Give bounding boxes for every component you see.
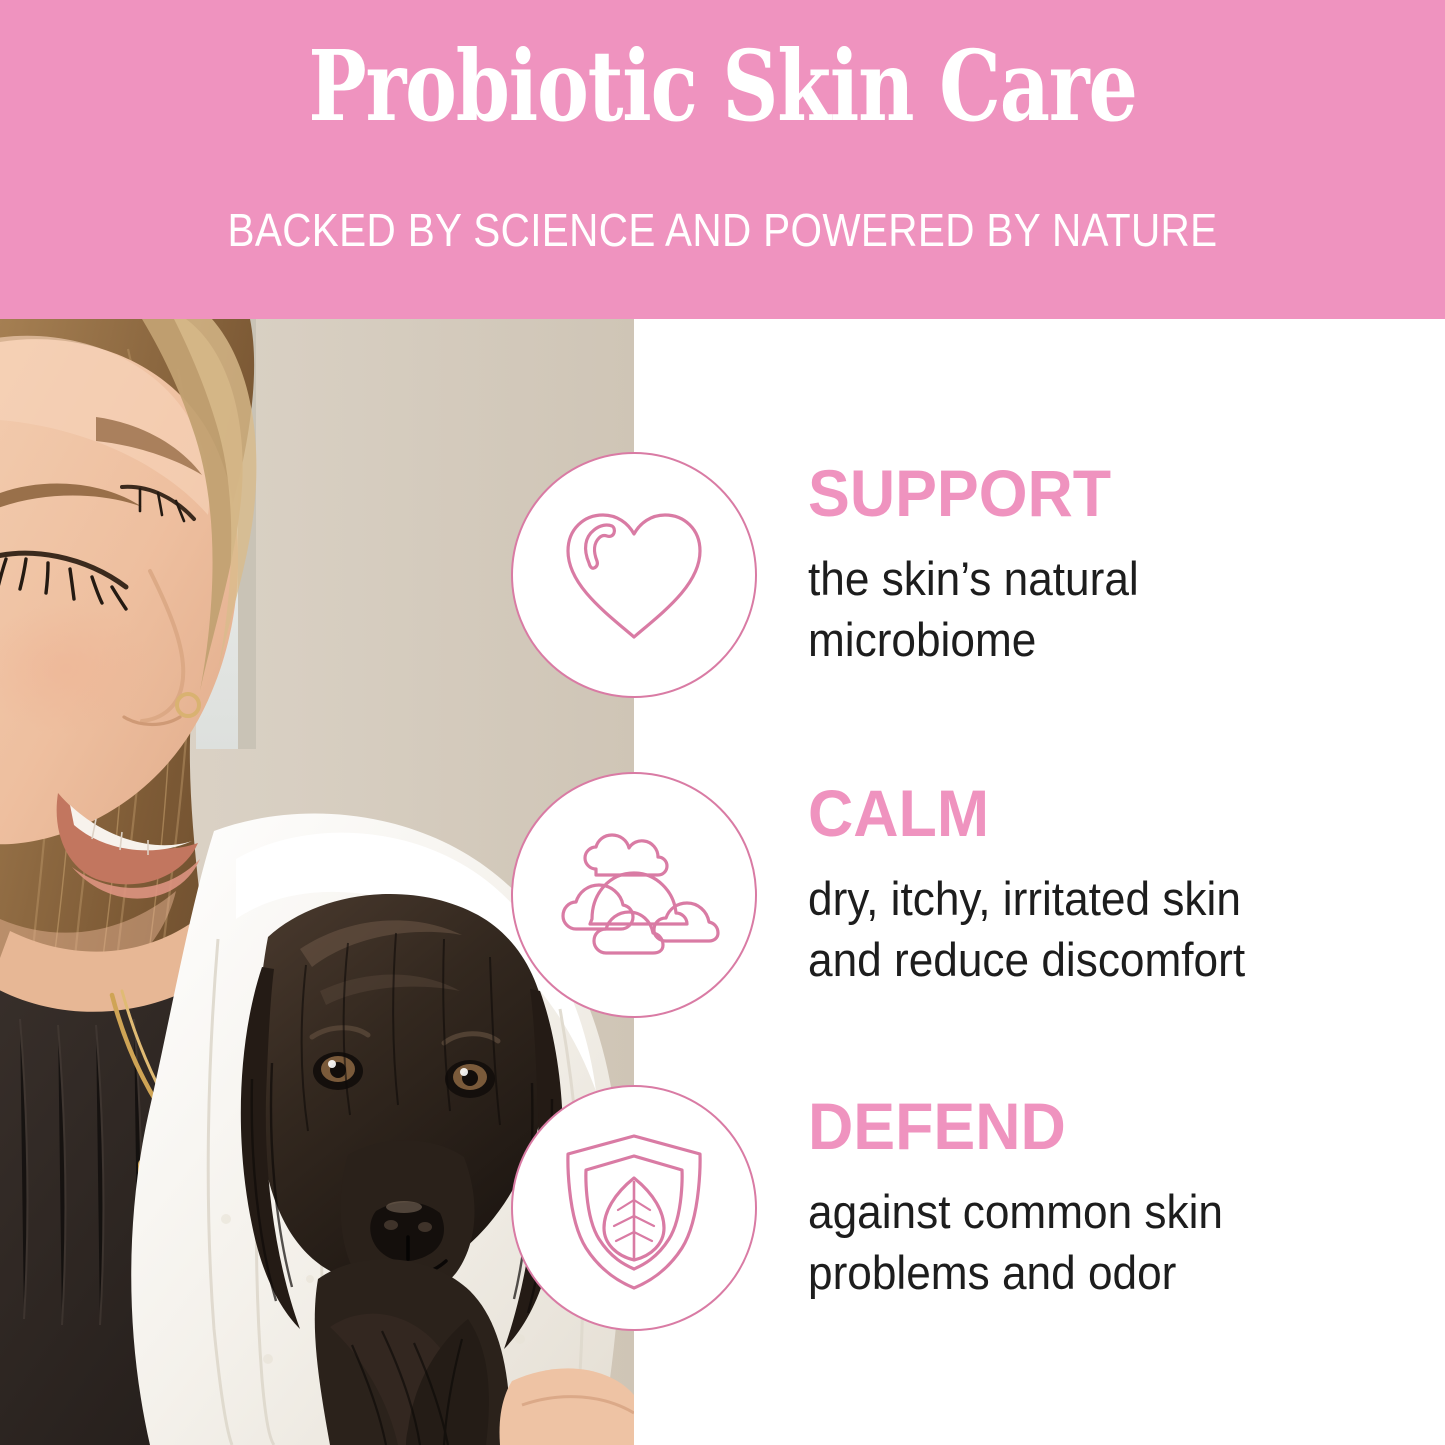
page-title: Probiotic Skin Care xyxy=(145,36,1301,138)
benefit-calm-text: CALM dry, itchy, irritated skin and redu… xyxy=(808,780,1428,990)
page-subtitle: BACKED BY SCIENCE AND POWERED BY NATURE xyxy=(87,205,1359,256)
infographic-page: Probiotic Skin Care BACKED BY SCIENCE AN… xyxy=(0,0,1445,1445)
benefit-support-body-line-1: the skin’s natural xyxy=(808,548,1391,609)
benefit-support-body-line-2: microbiome xyxy=(808,609,1391,670)
benefit-calm-body-line-1: dry, itchy, irritated skin xyxy=(808,868,1391,929)
benefit-defend-body-line-2: problems and odor xyxy=(808,1242,1391,1303)
benefit-defend: DEFEND against common skin problems and … xyxy=(0,1085,1445,1331)
clouds-icon xyxy=(511,772,757,1018)
shield-leaf-icon xyxy=(511,1085,757,1331)
benefit-support-heading: SUPPORT xyxy=(808,460,1397,526)
benefit-defend-body: against common skin problems and odor xyxy=(808,1181,1391,1303)
benefit-support-body: the skin’s natural microbiome xyxy=(808,548,1391,670)
heart-icon xyxy=(511,452,757,698)
benefit-support-text: SUPPORT the skin’s natural microbiome xyxy=(808,460,1428,670)
benefit-calm-body: dry, itchy, irritated skin and reduce di… xyxy=(808,868,1391,990)
benefit-defend-body-line-1: against common skin xyxy=(808,1181,1391,1242)
benefit-defend-text: DEFEND against common skin problems and … xyxy=(808,1093,1428,1303)
benefit-calm: CALM dry, itchy, irritated skin and redu… xyxy=(0,772,1445,1018)
benefit-defend-heading: DEFEND xyxy=(808,1093,1397,1159)
benefit-calm-heading: CALM xyxy=(808,780,1397,846)
benefit-calm-body-line-2: and reduce discomfort xyxy=(808,929,1391,990)
header-band: Probiotic Skin Care BACKED BY SCIENCE AN… xyxy=(0,0,1445,319)
benefit-support: SUPPORT the skin’s natural microbiome xyxy=(0,452,1445,698)
